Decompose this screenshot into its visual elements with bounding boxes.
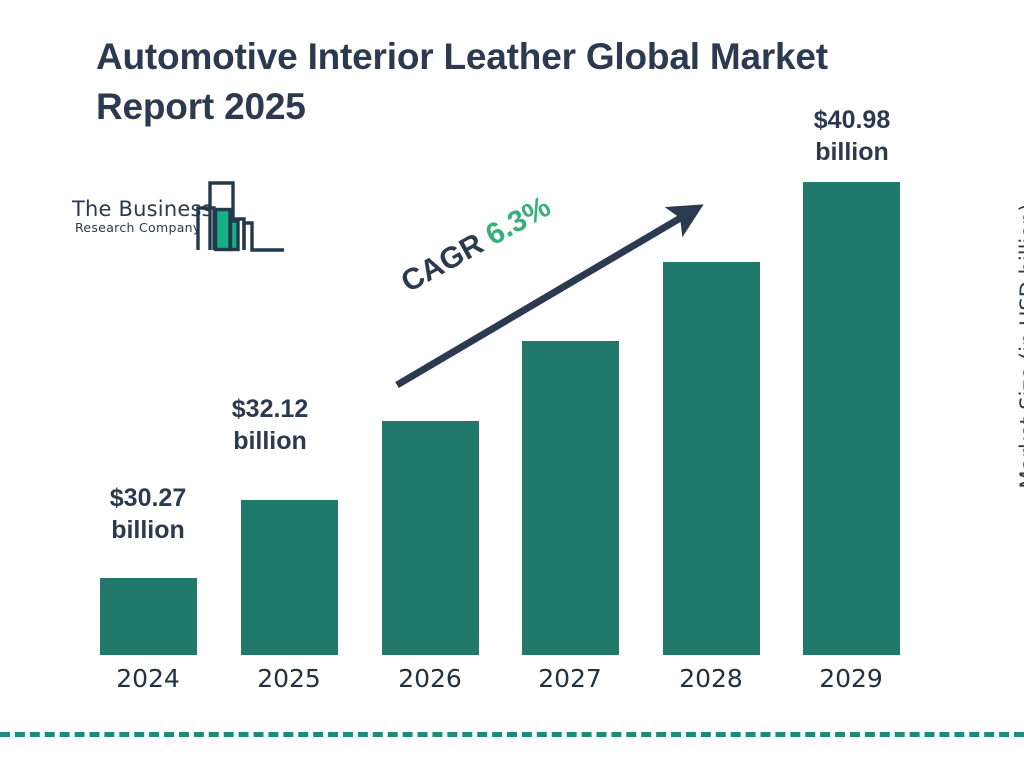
value-unit-2024: billion — [111, 516, 185, 544]
chart-canvas: Automotive Interior Leather Global Marke… — [0, 0, 1024, 768]
xtick-2028: 2028 — [641, 664, 781, 693]
xtick-2024: 2024 — [78, 664, 218, 693]
bar-chart-plot: 2024 2025 2026 2027 2028 2029 $30.27 bil… — [0, 0, 1024, 768]
xtick-2029: 2029 — [781, 664, 921, 693]
cagr-value: 6.3% — [480, 190, 556, 252]
value-amount-2029: $40.98 — [814, 106, 890, 134]
value-label-2025: $32.12 billion — [190, 393, 350, 457]
bar-2026 — [382, 421, 479, 655]
xtick-2026: 2026 — [360, 664, 500, 693]
value-amount-2025: $32.12 — [232, 395, 308, 423]
footer-divider — [0, 732, 1024, 737]
value-unit-2025: billion — [233, 427, 307, 455]
bar-2027 — [522, 341, 619, 655]
value-unit-2029: billion — [815, 138, 889, 166]
bar-2024 — [100, 578, 197, 655]
cagr-annotation: CAGR 6.3% — [396, 190, 557, 300]
cagr-word: CAGR — [396, 227, 489, 299]
xtick-2027: 2027 — [500, 664, 640, 693]
value-label-2029: $40.98 billion — [772, 104, 932, 168]
y-axis-title: Market Size (in USD billion) — [1016, 181, 1024, 511]
xtick-2025: 2025 — [219, 664, 359, 693]
value-amount-2024: $30.27 — [110, 484, 186, 512]
bar-2028 — [663, 262, 760, 655]
bar-2029 — [803, 182, 900, 655]
value-label-2024: $30.27 billion — [68, 482, 228, 546]
bar-2025 — [241, 500, 338, 655]
